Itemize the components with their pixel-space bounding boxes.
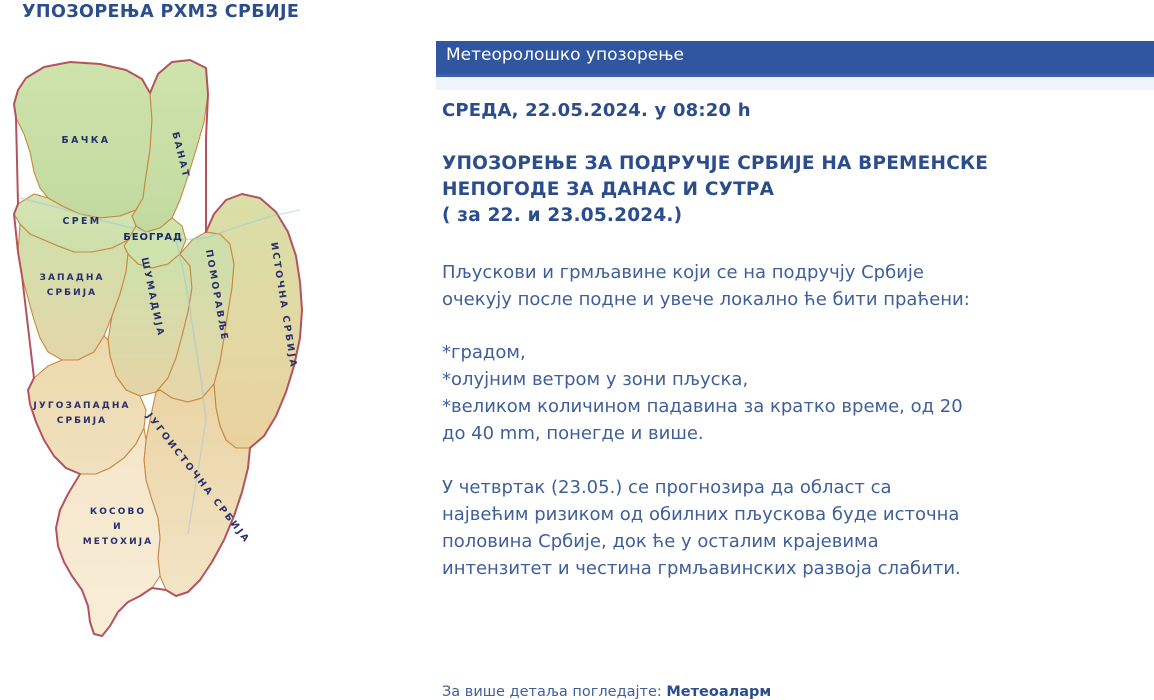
warning-outlook-line-4: интензитет и честина грмљавинских развој… — [442, 555, 1148, 582]
warning-body: СРЕДА, 22.05.2024. у 08:20 h УПОЗОРЕЊЕ З… — [442, 100, 1148, 608]
warning-headline: УПОЗОРЕЊЕ ЗА ПОДРУЧЈЕ СРБИЈЕ НА ВРЕМЕНСК… — [442, 151, 1148, 229]
warning-header-bar: Метеоролошко упозорење — [436, 41, 1154, 74]
warning-outlook-line-3: половина Србије, док ће у осталим крајев… — [442, 528, 1148, 555]
warning-footnote: За више детаља погледајте: Метеоаларм — [442, 684, 771, 700]
warning-footnote-prefix: За више детаља погледајте: — [442, 684, 666, 700]
warning-header-title: Метеоролошко упозорење — [446, 45, 684, 65]
serbia-region-map: БАЧКА БАНАТ СРЕМ БЕОГРАД ЗАПАДНА СРБИЈА … — [0, 48, 420, 672]
meteoalarm-link[interactable]: Метеоаларм — [666, 684, 771, 700]
warning-outlook-line-2: највећим ризиком од обилних пљускова буд… — [442, 501, 1148, 528]
warning-intro-paragraph: Пљускови и грмљавине који се на подручју… — [442, 259, 1148, 313]
warning-intro-line-1: Пљускови и грмљавине који се на подручју… — [442, 259, 1148, 286]
warning-header-strip — [436, 77, 1154, 90]
warning-bullet-line-2: *олујним ветром у зони пљуска, — [442, 366, 1148, 393]
serbia-map-svg: БАЧКА БАНАТ СРЕМ БЕОГРАД ЗАПАДНА СРБИЈА … — [0, 48, 420, 672]
meteo-warning-panel: Метеоролошко упозорење СРЕДА, 22.05.2024… — [436, 41, 1154, 672]
warning-bullet-line-1: *градом, — [442, 339, 1148, 366]
page-title: УПОЗОРЕЊА РХМЗ СРБИЈЕ — [22, 2, 299, 22]
warning-headline-line-1: УПОЗОРЕЊЕ ЗА ПОДРУЧЈЕ СРБИЈЕ НА ВРЕМЕНСК… — [442, 151, 1148, 177]
warning-headline-line-2: НЕПОГОДЕ ЗА ДАНАС И СУТРА — [442, 177, 1148, 203]
warning-datetime: СРЕДА, 22.05.2024. у 08:20 h — [442, 100, 1148, 121]
warning-headline-line-3: ( за 22. и 23.05.2024.) — [442, 203, 1148, 229]
warning-bullet-line-4: до 40 mm, понегде и више. — [442, 420, 1148, 447]
warning-intro-line-2: очекују после подне и увече локално ће б… — [442, 286, 1148, 313]
warning-bullet-line-3: *великом количином падавина за кратко вр… — [442, 393, 1148, 420]
warning-bullet-list: *градом, *олујним ветром у зони пљуска, … — [442, 339, 1148, 447]
warning-outlook-line-1: У четвртак (23.05.) се прогнозира да обл… — [442, 474, 1148, 501]
warning-outlook-paragraph: У четвртак (23.05.) се прогнозира да обл… — [442, 474, 1148, 582]
